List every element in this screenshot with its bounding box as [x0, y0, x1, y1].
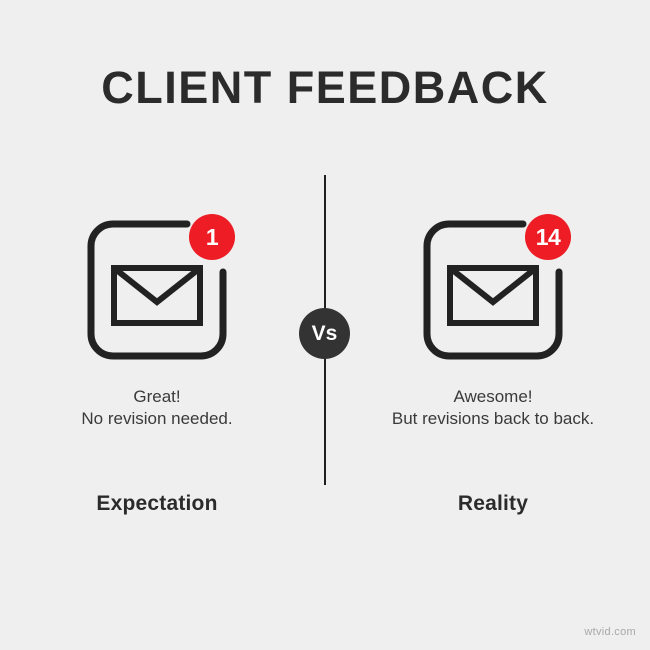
- caption-line-2: But revisions back to back.: [348, 408, 638, 430]
- panel-expectation: 1 Great! No revision needed. Expectation: [12, 210, 302, 516]
- meme-canvas: CLIENT FEEDBACK Vs 1 Great! No revision …: [0, 0, 650, 650]
- mail-icon-container-left: 1: [77, 210, 237, 370]
- panel-label-expectation: Expectation: [12, 492, 302, 516]
- notification-badge-count: 1: [189, 214, 235, 260]
- page-title: CLIENT FEEDBACK: [0, 62, 650, 114]
- watermark: wtvid.com: [584, 626, 636, 638]
- caption-expectation: Great! No revision needed.: [12, 386, 302, 430]
- caption-line-2: No revision needed.: [12, 408, 302, 430]
- versus-badge: Vs: [299, 308, 350, 359]
- notification-badge-count: 14: [525, 214, 571, 260]
- mail-icon-container-right: 14: [413, 210, 573, 370]
- panel-reality: 14 Awesome! But revisions back to back. …: [348, 210, 638, 516]
- caption-line-1: Awesome!: [348, 386, 638, 408]
- caption-line-1: Great!: [12, 386, 302, 408]
- caption-reality: Awesome! But revisions back to back.: [348, 386, 638, 430]
- panel-label-reality: Reality: [348, 492, 638, 516]
